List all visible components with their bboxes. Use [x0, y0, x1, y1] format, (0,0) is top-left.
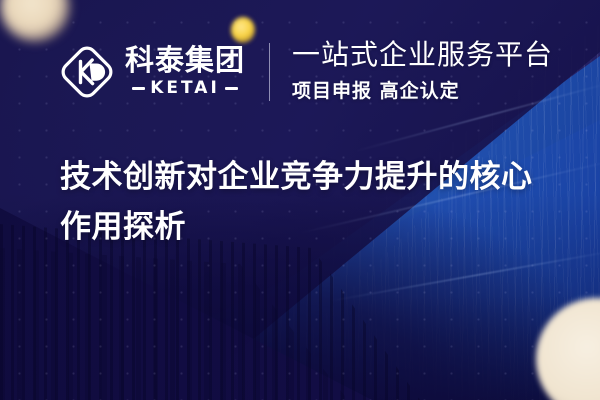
logo-name-en-row: KETAI	[132, 80, 238, 97]
tagline-main: 一站式企业服务平台	[292, 40, 553, 70]
ketai-diamond-k-logo-icon	[58, 43, 116, 101]
header-divider	[269, 43, 270, 101]
tagline-group: 一站式企业服务平台 项目申报 高企认定	[292, 40, 553, 103]
promo-banner: 科泰集团 KETAI 一站式企业服务平台 项目申报 高企认定 技术创新对企业竞争…	[0, 0, 600, 400]
logo-wordmark: 科泰集团 KETAI	[125, 46, 245, 97]
banner-header: 科泰集团 KETAI 一站式企业服务平台 项目申报 高企认定	[58, 40, 553, 103]
logo-name-cn: 科泰集团	[125, 46, 245, 75]
logo-dash-right-icon	[225, 87, 238, 90]
tagline-sub: 项目申报 高企认定	[292, 76, 553, 103]
logo-name-en: KETAI	[150, 80, 220, 97]
banner-title: 技术创新对企业竞争力提升的核心作用探析	[60, 152, 560, 252]
logo-dash-left-icon	[132, 87, 145, 90]
